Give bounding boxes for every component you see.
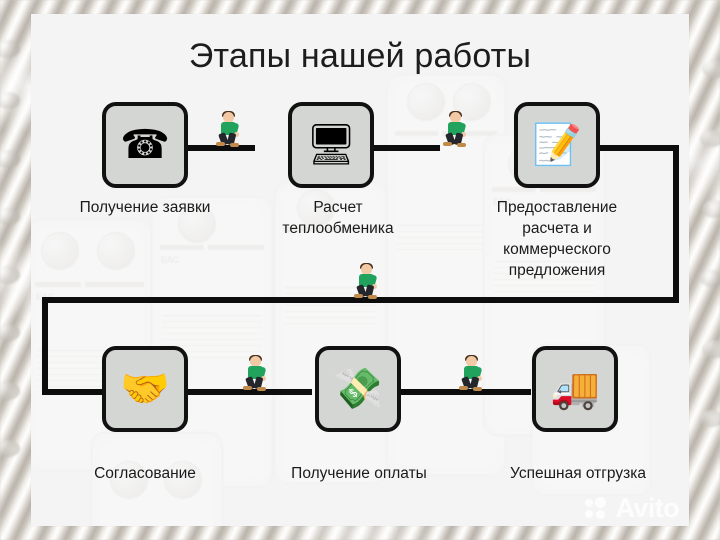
avito-watermark: Avito xyxy=(585,495,680,522)
telephone-icon: ☎ xyxy=(120,125,170,165)
step-4-box[interactable]: 🤝 xyxy=(102,346,188,432)
walking-person-icon xyxy=(354,264,380,298)
step-2-box[interactable]: 🖥 xyxy=(288,102,374,188)
connector-left-down xyxy=(42,297,48,395)
flying-money-icon: 💸 xyxy=(333,369,383,409)
avito-logo-icon xyxy=(585,497,611,521)
walking-person-icon xyxy=(443,112,469,146)
step-6-label: Успешная отгрузка xyxy=(467,463,689,484)
desktop-computer-icon: 🖥 xyxy=(306,125,357,165)
connector-right-down xyxy=(673,145,679,303)
walking-person-icon xyxy=(459,356,485,390)
memo-pencil-icon: 📝 xyxy=(532,125,582,165)
page-title: Этапы нашей работы xyxy=(31,36,689,76)
delivery-truck-icon: 🚚 xyxy=(550,369,600,409)
walking-person-icon xyxy=(243,356,269,390)
step-2-label: Расчет теплообменика xyxy=(250,197,426,239)
step-1-label: Получение заявки xyxy=(32,197,258,218)
step-6-box[interactable]: 🚚 xyxy=(532,346,618,432)
step-5-box[interactable]: 💸 xyxy=(315,346,401,432)
walking-person-icon xyxy=(216,112,242,146)
handshake-icon: 🤝 xyxy=(120,369,170,409)
infographic-canvas: EAC EAC EAC xyxy=(0,0,720,540)
step-5-label: Получение оплаты xyxy=(249,463,469,484)
slide-card: EAC EAC EAC xyxy=(31,14,689,526)
step-3-label: Предоставление расчета и коммерческого п… xyxy=(466,197,648,281)
step-4-label: Согласование xyxy=(45,463,245,484)
step-1-box[interactable]: ☎ xyxy=(102,102,188,188)
step-3-box[interactable]: 📝 xyxy=(514,102,600,188)
avito-wordmark: Avito xyxy=(616,495,680,522)
